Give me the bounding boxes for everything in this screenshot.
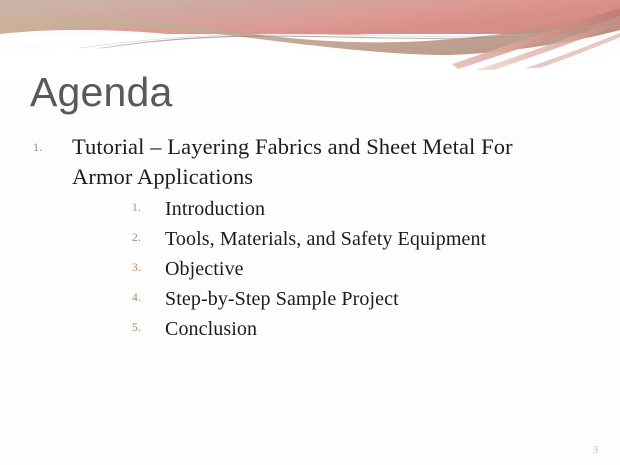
outline-item-level2-number: 5. [132,322,141,334]
outline-item-level2-number: 2. [132,232,141,244]
presentation-slide: Agenda 1. Tutorial – Layering Fabrics an… [0,0,620,465]
outline-item-level2-text: Introduction [165,198,265,220]
agenda-outline-list: 1. Tutorial – Layering Fabrics and Sheet… [0,132,620,348]
page-title: Agenda [30,68,173,116]
outline-item-level2-number: 1. [132,202,141,214]
outline-item-level2: 1. Introduction [72,194,620,224]
outline-item-level1: 1. Tutorial – Layering Fabrics and Sheet… [0,132,620,344]
outline-item-level2-text: Objective [165,258,244,280]
outline-item-level2-number: 4. [132,292,141,304]
outline-sublist: 1. Introduction 2. Tools, Materials, and… [72,194,620,344]
outline-item-level2-text: Tools, Materials, and Safety Equipment [165,228,486,250]
outline-item-level2-text: Step-by-Step Sample Project [165,288,399,310]
outline-item-level2-text: Conclusion [165,318,257,340]
outline-item-level2: 2. Tools, Materials, and Safety Equipmen… [72,224,620,254]
outline-item-level1-text: Tutorial – Layering Fabrics and Sheet Me… [72,132,542,192]
outline-item-level2-number: 3. [132,262,141,274]
outline-item-level2: 5. Conclusion [72,314,620,344]
slide-number: 3 [593,445,598,456]
outline-item-level1-number: 1. [33,140,43,155]
outline-item-level2: 3. Objective [72,254,620,284]
outline-item-level2: 4. Step-by-Step Sample Project [72,284,620,314]
